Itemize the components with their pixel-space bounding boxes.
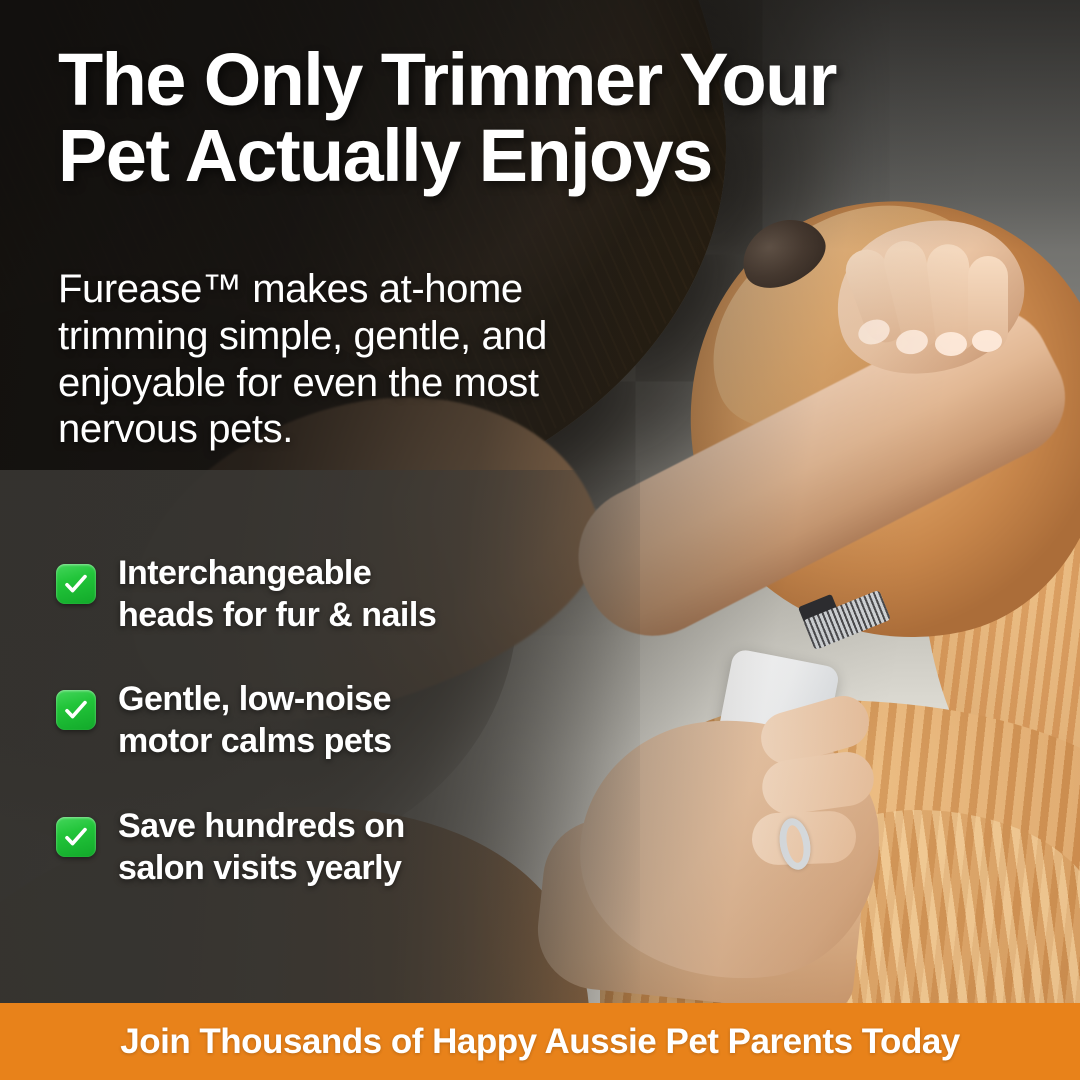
benefit-line-1: Gentle, low-noise bbox=[118, 680, 391, 718]
subheadline: Furease™ makes at-home trimming simple, … bbox=[58, 266, 578, 453]
cta-banner-text: Join Thousands of Happy Aussie Pet Paren… bbox=[120, 1022, 960, 1062]
benefit-text: Save hundreds on salon visits yearly bbox=[118, 805, 405, 889]
headline-line-1: The Only Trimmer Your bbox=[58, 42, 958, 118]
benefit-item: Interchangeable heads for fur & nails bbox=[56, 552, 576, 636]
headline: The Only Trimmer Your Pet Actually Enjoy… bbox=[58, 42, 958, 194]
benefits-list: Interchangeable heads for fur & nails Ge… bbox=[56, 552, 576, 889]
benefit-line-1: Save hundreds on bbox=[118, 807, 405, 845]
green-check-icon bbox=[56, 564, 96, 604]
benefit-text: Interchangeable heads for fur & nails bbox=[118, 552, 436, 636]
headline-line-2: Pet Actually Enjoys bbox=[58, 118, 958, 194]
benefit-item: Gentle, low-noise motor calms pets bbox=[56, 678, 576, 762]
cta-banner[interactable]: Join Thousands of Happy Aussie Pet Paren… bbox=[0, 1003, 1080, 1080]
benefit-item: Save hundreds on salon visits yearly bbox=[56, 805, 576, 889]
benefit-line-2: salon visits yearly bbox=[118, 849, 401, 887]
benefit-line-2: motor calms pets bbox=[118, 722, 392, 760]
benefit-line-2: heads for fur & nails bbox=[118, 596, 436, 634]
promo-image: The Only Trimmer Your Pet Actually Enjoy… bbox=[0, 0, 1080, 1080]
benefit-text: Gentle, low-noise motor calms pets bbox=[118, 678, 392, 762]
green-check-icon bbox=[56, 690, 96, 730]
green-check-icon bbox=[56, 817, 96, 857]
benefit-line-1: Interchangeable bbox=[118, 554, 371, 592]
